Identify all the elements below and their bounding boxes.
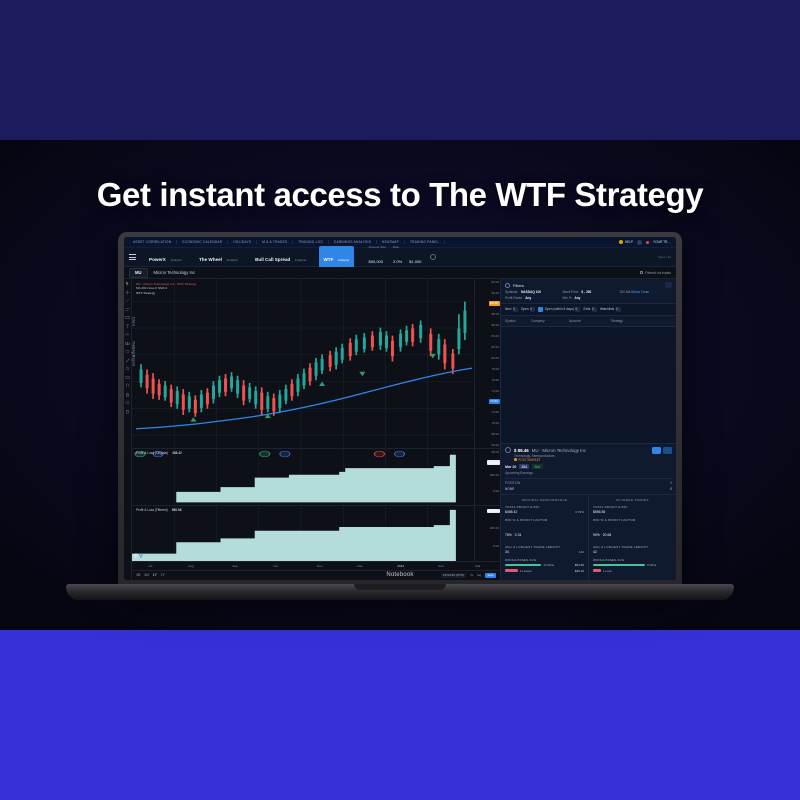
ma200-price-tag: 72.83 (489, 399, 500, 404)
chip-watchlists-count: 0 (616, 307, 621, 312)
filter-stock-price[interactable]: Stock Price $ - 250 (562, 290, 614, 294)
original-length-label: AVG & LONGEST TRADE LENGTH (505, 545, 584, 549)
original-winrate-value: 75% · 2.31 (505, 533, 521, 537)
filtered-out-trades-toggle[interactable]: Filtered out trades (640, 271, 671, 275)
account-size-field[interactable]: Account Size $50,000 (369, 246, 387, 269)
filtered-trades-title: FILTERED TRADES (593, 498, 672, 502)
position-none-label: NONE (505, 487, 514, 491)
time-tick-feb: Feb (438, 564, 443, 568)
account-label[interactable]: YOUR TR... (653, 240, 670, 244)
chip-open-label: Open (521, 307, 529, 311)
pnl-original-tick-0: 96.00 (491, 450, 499, 454)
laptop-base: Notebook (66, 584, 734, 600)
results-table-body[interactable] (501, 327, 676, 443)
filtered-out-trades-label: Filtered out trades (645, 271, 671, 275)
filtered-winloss-section: WINS/LOSSES AVG 9 Wins 1 Loss (593, 558, 672, 573)
original-total-profit-section: TOTAL PROFIT & ROI $458.42 0.79% (505, 505, 584, 515)
filters-grid: Symbols: NASDAQ 100 Stock Price $ - 250 … (501, 290, 676, 303)
forecast-icon[interactable] (125, 341, 130, 346)
pnl-filtered-axis[interactable]: 556.56 200.00 0.00 (474, 506, 500, 561)
status-right-group: 19:54:32 (UTC) % log auto (441, 573, 496, 578)
time-axis[interactable]: Jul Aug Sep Oct Nov Dec 2024 Feb Mar (132, 561, 500, 570)
filter-profit-factor[interactable]: Profit Factor Any (505, 296, 557, 300)
original-total-profit-row: $458.42 0.79% (505, 510, 584, 514)
strategy-tab-bull-call-spread-name: Bull Call Spread (255, 257, 290, 262)
time-tick-oct: Oct (273, 564, 278, 568)
price-tick-8: 76.00 (491, 378, 499, 382)
filtered-total-profit-label: TOTAL PROFIT & ROI (593, 505, 672, 509)
chip-watchlists[interactable]: Watchlists 0 (600, 307, 621, 312)
time-tick-dec: Dec (357, 564, 363, 568)
measure-icon[interactable] (125, 375, 130, 380)
pattern-icon[interactable] (125, 332, 130, 337)
chip-open-count: 0 (530, 307, 535, 312)
filters-expand-button[interactable] (665, 282, 672, 288)
account-settings-group: Account Size $50,000 Risk 2.0% $1,000 (369, 246, 437, 269)
background-bottom-band (0, 630, 800, 800)
risk-field[interactable]: Risk 2.0% (393, 246, 402, 269)
price-chart-svg (132, 279, 474, 448)
time-tick-mar: Mar (475, 564, 480, 568)
filtered-losses-row: 1 Loss (593, 569, 672, 573)
chip-open5-count: 0 (575, 307, 580, 312)
percent-toggle[interactable]: % (470, 573, 473, 577)
original-losses-row: 4 Losses $39.10 (505, 569, 584, 573)
price-tick-13: 66.00 (491, 443, 499, 447)
rectangle-icon[interactable] (125, 315, 130, 320)
tradingview-logo-icon (134, 552, 143, 559)
original-winloss-label: WINS/LOSSES AVG (505, 558, 584, 562)
filtered-length-row: 42 (593, 550, 672, 554)
original-winloss-section: WINS/LOSSES AVG 12 Wins $54.80 4 Losses (505, 558, 584, 573)
brush-icon[interactable] (125, 358, 130, 363)
price-tick-6: 80.00 (491, 356, 499, 360)
original-length-longest: 140 (579, 550, 584, 554)
risk-value: 2.0% (393, 259, 402, 264)
price-tick-11: 70.00 (491, 421, 499, 425)
trade-markers (190, 354, 435, 422)
filtered-length-value: 42 (593, 550, 597, 554)
pnl-filtered-label: Profit & Loss (Filtered) (136, 508, 168, 512)
topnav-item-heatmap[interactable]: HEATMAP (377, 240, 405, 244)
original-wins-bar (505, 564, 541, 567)
horizontal-line-icon[interactable] (125, 307, 130, 312)
background-top-band (0, 0, 800, 140)
pnl-original-markers (132, 450, 474, 458)
timeframe-3m[interactable]: 3M (136, 573, 140, 577)
chip-new-count: 0 (513, 307, 518, 312)
trash-icon[interactable] (125, 409, 130, 414)
price-tick-5: 82.00 (491, 345, 499, 349)
market-status-badge: POST MARKET (514, 458, 672, 462)
risk-amount-spacer (409, 246, 421, 250)
time-tick-2024: 2024 (397, 564, 404, 568)
filtered-length-label: AVG & LONGEST TRADE LENGTH (593, 545, 672, 549)
pnl-filtered-svg (132, 506, 474, 561)
strategy-tab-powerx[interactable]: PowerX Analyzer (145, 246, 186, 267)
original-wins-row: 12 Wins $54.80 (505, 563, 584, 567)
original-winrate-section: WIN % & PROFIT FACTOR 75% · 2.31 (505, 518, 584, 542)
filtered-winrate-value: 90% · 20.66 (593, 533, 611, 537)
filtered-total-profit-section: TOTAL PROFIT & ROI $556.56 (593, 505, 672, 515)
time-tick-jul: Jul (148, 564, 152, 568)
chip-exits[interactable]: Exits 0 (583, 307, 596, 312)
checkbox-icon (640, 271, 643, 274)
market-status-label: POST MARKET (518, 458, 541, 462)
original-wins-text: 12 Wins (543, 563, 554, 567)
price-plot-area[interactable] (132, 279, 474, 448)
filtered-winloss-label: WINS/LOSSES AVG (593, 558, 672, 562)
position-none-row: NONE 0 (505, 485, 672, 491)
current-price-tag: 89.46 (489, 301, 500, 306)
position-label: POSITION (505, 481, 520, 485)
account-size-value: $50,000 (369, 259, 383, 264)
pnl-filtered-tag: 556.56 (487, 509, 500, 514)
filtered-length-section: AVG & LONGEST TRADE LENGTH 42 (593, 545, 672, 555)
chip-new-label: New (505, 307, 511, 311)
filtered-wins-bar (593, 564, 645, 567)
topnav-item-asset-correlation[interactable]: ASSET CORRELATION (128, 240, 177, 244)
chip-exits-label: Exits (583, 307, 590, 311)
symbol-bar: MU Micron Technology Inc Filtered out tr… (124, 267, 676, 279)
filter-spacer (620, 296, 672, 300)
strategy-tab-powerx-sub: Analyzer (170, 258, 182, 262)
original-total-profit-roi: 0.79% (575, 510, 584, 514)
price-tick-10: 72.00 (491, 410, 499, 414)
stock-card-header: $ 89.46 MU - Micron Technology Inc (505, 447, 672, 454)
pnl-filtered-area (132, 510, 456, 561)
pnl-original-axis[interactable]: 96.00 458.42 400.00 0.00 (474, 449, 500, 504)
price-tick-0: 92.00 (491, 280, 499, 284)
pnl-filtered-tick-0: 200.00 (490, 526, 499, 530)
account-size-label: Account Size (369, 246, 387, 250)
strategy-tab-the-wheel-name: The Wheel (199, 257, 222, 262)
original-total-profit-label: TOTAL PROFIT & ROI (505, 505, 584, 509)
original-wins-amount: $54.80 (575, 563, 584, 567)
column-strategy[interactable]: Strategy (611, 319, 672, 323)
strategy-tab-wtf[interactable]: WTF Analyzer (319, 246, 353, 267)
chip-exits-count: 0 (592, 307, 597, 312)
price-chart-pane[interactable]: 92.00 90.00 89.46 88.00 86.00 84.00 82.0… (132, 279, 500, 448)
pnl-original-label: Profit & Loss (Original) (136, 451, 168, 455)
symbol-ticker-input[interactable]: MU (129, 268, 148, 278)
gear-icon[interactable] (430, 254, 436, 260)
position-value: 0 (670, 481, 672, 485)
earnings-days: 264 (519, 464, 529, 469)
time-tick-sep: Sep (232, 564, 238, 568)
risk-amount-value: $1,000 (409, 259, 421, 264)
pnl-original-pane[interactable]: Profit & Loss (Original)458.42 (132, 448, 500, 504)
original-performance-title: ORIGINAL PERFORMANCE (505, 498, 584, 502)
price-tick-3: 86.00 (491, 323, 499, 327)
pnl-original-tag: 458.42 (487, 460, 500, 465)
alert-icon[interactable] (646, 241, 649, 244)
chart-status-bar: 3M 6M 1Y 2Y 19:54:32 (UTC) % log auto (132, 570, 500, 580)
original-length-row: 34 140 (505, 550, 584, 554)
chip-new[interactable]: New 0 (505, 307, 518, 312)
pnl-original-tick-2: 0.00 (493, 489, 499, 493)
log-scale-toggle[interactable]: log (477, 573, 481, 577)
chart-view-button[interactable] (652, 447, 661, 454)
help-label: HELP (625, 240, 633, 244)
pnl-filtered-pane[interactable]: Profit & Loss (Filtered)556.56 (132, 505, 500, 561)
price-tick-7: 78.00 (491, 367, 499, 371)
timeframe-6m[interactable]: 6M (144, 573, 148, 577)
market-status-dot (514, 458, 517, 461)
watchlist-add-icon[interactable] (505, 447, 511, 453)
favorites-heart-icon[interactable] (125, 349, 130, 354)
filters-title: Filters (513, 283, 524, 288)
details-view-button[interactable] (663, 447, 672, 454)
filtered-winrate-section: WIN % & PROFIT FACTOR 90% · 20.66 (593, 518, 672, 542)
strategy-bar: PowerX Analyzer The Wheel Analyzer Bull … (124, 248, 676, 267)
pnl-original-tick-1: 400.00 (490, 473, 499, 477)
chip-open[interactable]: Open 0 (521, 307, 535, 312)
right-panel: Filters Symbols: NASDAQ 100 Stock Price … (500, 279, 676, 580)
filter-win-pct[interactable]: Win % Any (562, 296, 614, 300)
chip-watchlists-label: Watchlists (600, 307, 614, 311)
chart-column: Chart Trading Report MU - Micron Technol… (132, 279, 500, 580)
filtered-trades-panel: FILTERED TRADES TOTAL PROFIT & ROI $556.… (588, 495, 676, 581)
time-tick-nov: Nov (317, 564, 323, 568)
position-row: POSITION 0 (505, 478, 672, 486)
pnl-original-plot[interactable]: Profit & Loss (Original)458.42 (132, 449, 474, 504)
price-axis[interactable]: 92.00 90.00 89.46 88.00 86.00 84.00 82.0… (474, 279, 500, 448)
filters-header[interactable]: Filters (501, 279, 676, 290)
lock-icon[interactable] (125, 392, 130, 397)
topnav-item-holidays[interactable]: HOLIDAYS (228, 240, 257, 244)
topnav-item-earnings-analysis[interactable]: EARNINGS ANALYSIS (329, 240, 377, 244)
pnl-original-value: 458.42 (172, 451, 182, 455)
filter-200-ma[interactable]: 200 MA Below Close (620, 290, 672, 294)
filtered-losses-text: 1 Loss (603, 569, 612, 573)
chart-legend: MU - Micron Technology Inc - WTF Strateg… (136, 282, 196, 295)
price-tick-12: 68.00 (491, 432, 499, 436)
earnings-date: Mar 20 (505, 465, 516, 469)
topnav-item-trading-panel[interactable]: TRADING PANEL (405, 240, 445, 244)
cursor-icon[interactable] (125, 281, 130, 286)
results-table-header: Symbol Company Account Strategy (501, 316, 676, 327)
timeframe-1y[interactable]: 1Y (153, 573, 157, 577)
pnl-filtered-value: 556.56 (172, 508, 182, 512)
strategy-tab-powerx-name: PowerX (149, 257, 166, 262)
pnl-filtered-plot[interactable]: Profit & Loss (Filtered)556.56 (132, 506, 474, 561)
stock-price: $ 89.46 (514, 448, 529, 453)
timeframe-2y[interactable]: 2Y (161, 573, 165, 577)
original-losses-bar (505, 569, 518, 572)
position-none-value: 0 (670, 487, 672, 491)
laptop-brand-label: Notebook (386, 572, 413, 578)
filtered-losses-bar (593, 569, 601, 572)
auto-scale-toggle[interactable]: auto (485, 573, 496, 578)
chart-clock: 19:54:32 (UTC) (441, 573, 466, 578)
pnl-filtered-tick-1: 0.00 (493, 544, 499, 548)
column-symbol[interactable]: Symbol (505, 319, 531, 323)
price-tick-2: 88.00 (491, 312, 499, 316)
pnl-filtered-label-group: Profit & Loss (Filtered)556.56 (136, 508, 181, 512)
strategy-tab-wtf-name: WTF (323, 257, 333, 262)
text-icon[interactable] (125, 324, 130, 329)
filtered-winrate-label: WIN % & PROFIT FACTOR (593, 518, 672, 522)
original-winrate-label: WIN % & PROFIT FACTOR (505, 518, 584, 522)
chevron-down-icon[interactable] (505, 283, 510, 288)
original-losses-text: 4 Losses (520, 569, 532, 573)
page-headline: Get instant access to The WTF Strategy (0, 176, 800, 214)
time-tick-aug: Aug (188, 564, 194, 568)
laptop-mockup: ASSET CORRELATION ECONOMIC CALENDAR HOLI… (118, 232, 682, 594)
eye-icon[interactable] (125, 400, 130, 405)
price-tick-4: 84.00 (491, 334, 499, 338)
stock-detail-card: $ 89.46 MU - Micron Technology Inc Techn… (501, 443, 676, 494)
magnifier-icon[interactable] (125, 366, 130, 371)
price-tick-9: 74.00 (491, 389, 499, 393)
risk-label: Risk (393, 246, 402, 250)
topnav-item-trading-log[interactable]: TRADING LOG (293, 240, 329, 244)
chip-open5-icon (538, 307, 543, 312)
stock-card-actions (652, 447, 672, 454)
help-icon (619, 240, 623, 244)
settings-icon[interactable] (637, 240, 642, 245)
original-total-profit-value: $458.42 (505, 510, 517, 514)
topnav-item-ma-trades[interactable]: M & A TRADES (257, 240, 293, 244)
symbol-company-name: Micron Technology Inc (154, 270, 196, 275)
strategy-tab-the-wheel[interactable]: The Wheel Analyzer (195, 246, 242, 267)
trendline-icon[interactable] (125, 298, 130, 303)
stock-symbol-name: MU - Micron Technology Inc (532, 448, 586, 453)
strategy-tab-the-wheel-sub: Analyzer (226, 258, 238, 262)
upcoming-earnings-label: Upcoming Earnings (505, 471, 672, 475)
crosshair-icon[interactable] (125, 290, 130, 295)
earnings-row: Mar 20 264 Mar (505, 464, 672, 469)
pnl-original-label-group: Profit & Loss (Original)458.42 (136, 451, 182, 455)
laptop-screen: ASSET CORRELATION ECONOMIC CALENDAR HOLI… (124, 237, 676, 580)
chart-legend-strategy: WTF Strategy (136, 291, 196, 295)
strategy-tab-bull-call-spread[interactable]: Bull Call Spread Analyzer (251, 246, 310, 267)
filtered-wins-text: 9 Wins (647, 563, 656, 567)
laptop-lid: ASSET CORRELATION ECONOMIC CALENDAR HOLI… (118, 232, 682, 590)
filtered-total-profit-row: $556.56 (593, 510, 672, 514)
magnet-icon[interactable] (125, 383, 130, 388)
column-account[interactable]: Account (569, 319, 611, 323)
strategy-tab-wtf-sub: Analyzer (338, 258, 350, 262)
price-tick-1: 90.00 (491, 291, 499, 295)
chip-open-within-5-days[interactable]: Open (within 5 days) 0 (538, 307, 580, 312)
window-corner-note: Close | All (658, 255, 671, 259)
help-menu[interactable]: HELP (619, 240, 633, 244)
app-body: Chart Trading Report MU - Micron Technol… (124, 279, 676, 580)
original-losses-amount: $39.10 (575, 569, 584, 573)
chip-open5-label: Open (within 5 days) (545, 307, 574, 311)
filtered-total-profit-value: $556.56 (593, 510, 605, 514)
original-length-value: 34 (505, 550, 509, 554)
menu-icon[interactable] (129, 254, 136, 260)
pnl-original-area (132, 455, 456, 503)
risk-amount-field: $1,000 (409, 246, 421, 269)
performance-panels: ORIGINAL PERFORMANCE TOTAL PROFIT & ROI … (501, 494, 676, 581)
column-company[interactable]: Company (531, 319, 569, 323)
strategy-tab-bull-call-spread-sub: Analyzer (295, 258, 307, 262)
earnings-badge: Mar (532, 464, 543, 469)
original-length-section: AVG & LONGEST TRADE LENGTH 34 140 (505, 545, 584, 555)
topnav-item-economic-calendar[interactable]: ECONOMIC CALENDAR (177, 240, 228, 244)
filter-chips-row: New 0 Open 0 Open (within 5 days) 0 (501, 303, 676, 316)
filter-symbols[interactable]: Symbols: NASDAQ 100 (505, 290, 557, 294)
topnav-right-group: HELP YOUR TR... (619, 240, 672, 245)
original-performance-panel: ORIGINAL PERFORMANCE TOTAL PROFIT & ROI … (501, 495, 588, 581)
filtered-wins-row: 9 Wins (593, 563, 672, 567)
